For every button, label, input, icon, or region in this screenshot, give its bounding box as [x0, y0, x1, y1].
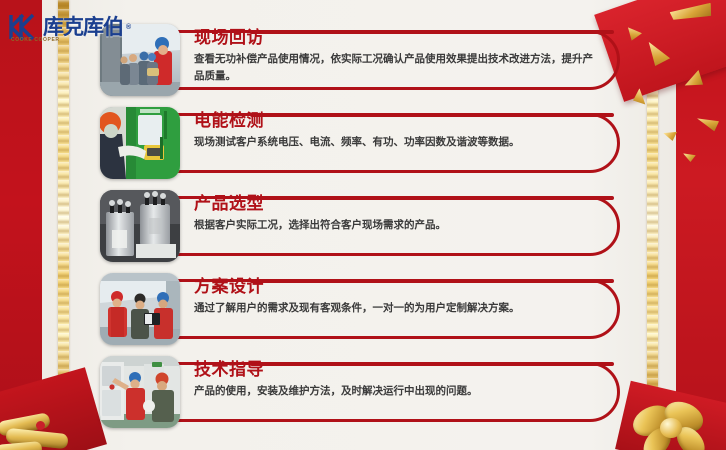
card-text-block: 方案设计 通过了解用户的需求及现有客观条件，一对一的为用户定制解决方案。 [194, 277, 602, 317]
card-description: 现场测试客户系统电压、电流、频率、有功、功率因数及谐波等数据。 [194, 134, 602, 150]
trademark-symbol: ® [126, 24, 131, 31]
card-description: 通过了解用户的需求及现有客观条件，一对一的为用户定制解决方案。 [194, 300, 602, 316]
card-title: 产品选型 [194, 194, 602, 215]
card-title: 电能检测 [194, 111, 602, 132]
service-card-4[interactable]: 方案设计 通过了解用户的需求及现有客观条件，一对一的为用户定制解决方案。 [100, 273, 620, 345]
brand-subtitle: COOKE COOPER [11, 37, 60, 43]
gold-bow-icon [628, 382, 724, 450]
card-description: 产品的使用，安装及维护方法，及时解决运行中出现的问题。 [194, 383, 602, 399]
card-text-block: 技术指导 产品的使用，安装及维护方法，及时解决运行中出现的问题。 [194, 360, 602, 400]
power-test-photo [100, 107, 180, 179]
service-step-list: 现场回访 查看无功补偿产品使用情况，依实际工况确认产品使用效果提出技术改进方法，… [100, 24, 620, 439]
card-text-block: 产品选型 根据客户实际工况，选择出符合客户现场需求的产品。 [194, 194, 602, 234]
brand-name: 库克库伯 [43, 17, 123, 38]
gold-ingot-icon [0, 392, 88, 450]
service-card-5[interactable]: 技术指导 产品的使用，安装及维护方法，及时解决运行中出现的问题。 [100, 356, 620, 428]
service-card-3[interactable]: 产品选型 根据客户实际工况，选择出符合客户现场需求的产品。 [100, 190, 620, 262]
technical-guidance-photo [100, 356, 180, 428]
card-title: 现场回访 [194, 28, 602, 49]
solution-design-photo [100, 273, 180, 345]
capacitor-product-photo [100, 190, 180, 262]
card-title: 技术指导 [194, 360, 602, 381]
card-text-block: 现场回访 查看无功补偿产品使用情况，依实际工况确认产品使用效果提出技术改进方法，… [194, 28, 602, 84]
card-title: 方案设计 [194, 277, 602, 298]
card-description: 根据客户实际工况，选择出符合客户现场需求的产品。 [194, 217, 602, 233]
card-text-block: 电能检测 现场测试客户系统电压、电流、频率、有功、功率因数及谐波等数据。 [194, 111, 602, 151]
service-card-2[interactable]: 电能检测 现场测试客户系统电压、电流、频率、有功、功率因数及谐波等数据。 [100, 107, 620, 179]
brand-logo[interactable]: 库克库伯 ® COOKE COOPER [8, 10, 136, 44]
card-description: 查看无功补偿产品使用情况，依实际工况确认产品使用效果提出技术改进方法，提升产品质… [194, 51, 602, 84]
service-card-1[interactable]: 现场回访 查看无功补偿产品使用情况，依实际工况确认产品使用效果提出技术改进方法，… [100, 24, 620, 96]
